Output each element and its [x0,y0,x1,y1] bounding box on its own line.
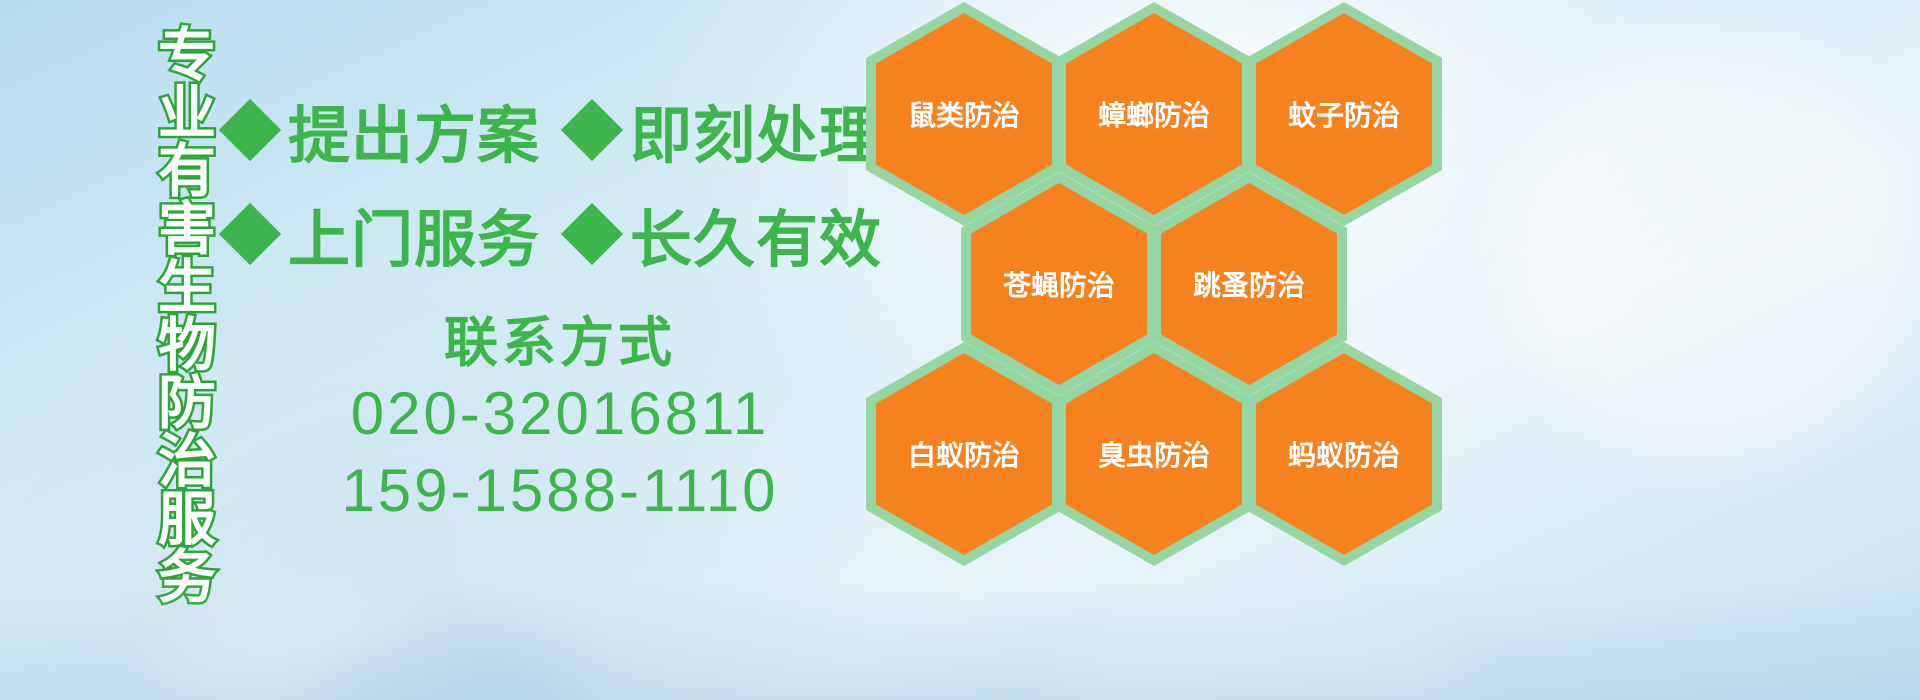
service-label: 蟑螂防治 [1098,94,1210,134]
hexagon-inner: 白蚁防治 [876,353,1052,555]
feature-item-2: 上门服务 [228,189,540,279]
service-label: 跳蚤防治 [1193,264,1305,304]
hexagon-inner: 跳蚤防治 [1161,183,1337,385]
diamond-bullet-icon [219,99,281,161]
vertical-headline: 专业有害生物防治服务 [112,14,210,614]
feature-item-0: 提出方案 [228,85,540,175]
feature-label: 提出方案 [288,85,540,175]
diamond-bullet-icon [219,203,281,265]
diamond-bullet-icon [561,99,623,161]
service-label: 白蚁防治 [908,434,1020,474]
contact-title: 联系方式 [300,312,820,376]
service-label: 蚊子防治 [1288,94,1400,134]
service-label: 蚂蚁防治 [1288,434,1400,474]
feature-label: 长久有效 [630,189,882,279]
feature-item-3: 长久有效 [570,189,882,279]
background-blur-shape [330,640,590,700]
promo-banner: 专业有害生物防治服务 提出方案 即刻处理 上门服务 长久有效 联系方式 0 [0,0,1920,700]
feature-list: 提出方案 即刻处理 上门服务 长久有效 [228,78,868,286]
hexagon-inner: 蟑螂防治 [1066,13,1242,215]
contact-block: 联系方式 020-32016811 159-1588-1110 [300,312,820,529]
feature-row-1: 提出方案 即刻处理 [228,78,868,182]
diamond-bullet-icon [561,203,623,265]
hexagon-inner: 蚂蚁防治 [1256,353,1432,555]
contact-phone-mobile[interactable]: 159-1588-1110 [300,453,820,530]
background-blur-shape [150,610,470,700]
feature-item-1: 即刻处理 [570,85,882,175]
service-label: 苍蝇防治 [1003,264,1115,304]
feature-label: 即刻处理 [630,85,882,175]
service-label: 鼠类防治 [908,94,1020,134]
hexagon-inner: 蚊子防治 [1256,13,1432,215]
background-glow-shape [1500,40,1920,460]
hexagon-inner: 苍蝇防治 [971,183,1147,385]
contact-phone-landline[interactable]: 020-32016811 [300,376,820,453]
feature-row-2: 上门服务 长久有效 [228,182,868,286]
hexagon-inner: 鼠类防治 [876,13,1052,215]
service-label: 臭虫防治 [1098,434,1210,474]
feature-label: 上门服务 [288,189,540,279]
service-hexagon-grid: 鼠类防治 蟑螂防治 蚊子防治 苍蝇防治 跳蚤防治 白蚁防治 [864,0,1464,700]
hexagon-inner: 臭虫防治 [1066,353,1242,555]
